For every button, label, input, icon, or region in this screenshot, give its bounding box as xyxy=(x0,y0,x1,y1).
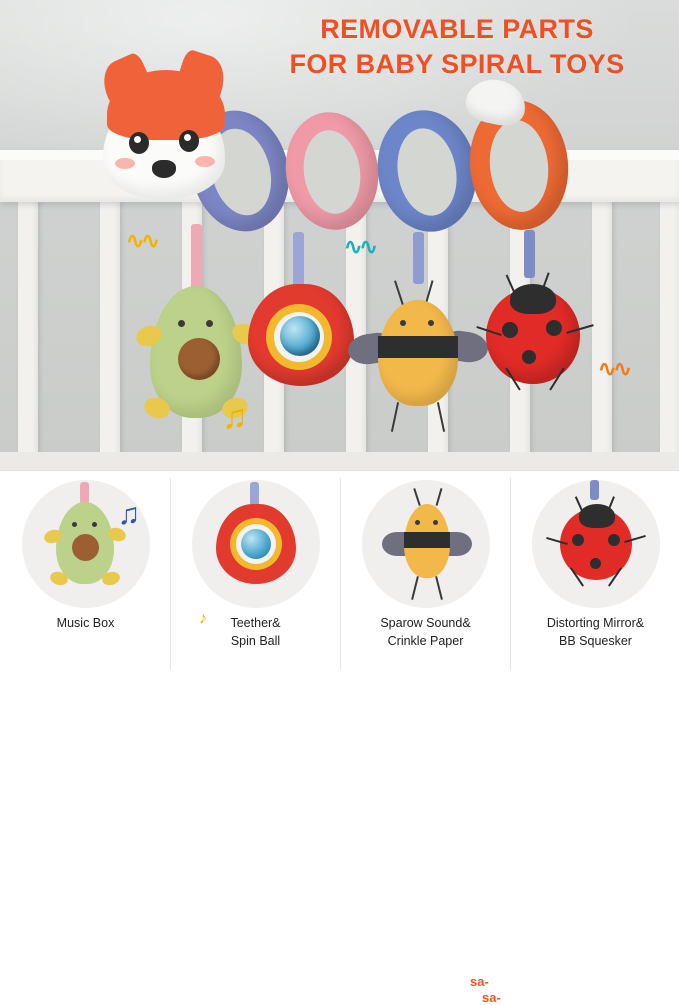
thumb-ladybug-head xyxy=(579,504,615,528)
thumb-bee-eye-right-icon xyxy=(433,520,438,525)
thumb-bee-leg-left xyxy=(411,576,419,600)
headline-line-1: REMOVABLE PARTS xyxy=(257,12,657,47)
feature-card-music-box[interactable]: ♫ Music Box xyxy=(1,478,170,670)
toy-bee-crinkle xyxy=(348,280,488,440)
feature-card-teether-spin-ball[interactable]: sa- sa- ♪ Teether& Spin Ball xyxy=(171,478,340,670)
crib-slat xyxy=(660,200,679,458)
bee-eye-left-icon xyxy=(400,320,406,326)
product-infographic: REMOVABLE PARTS FOR BABY SPIRAL TOYS xyxy=(0,0,679,679)
fox-nose-icon xyxy=(152,160,176,178)
toy-teether-spin-ball xyxy=(248,284,358,396)
feature-card-sparow-sound[interactable]: Sparow Sound& Crinkle Paper xyxy=(341,478,510,670)
avocado-eye-left-icon xyxy=(178,320,185,327)
strap-ladybug xyxy=(524,230,535,278)
hero-photo: REMOVABLE PARTS FOR BABY SPIRAL TOYS xyxy=(0,0,679,470)
sound-zigzag-orange-icon: ∿∿ xyxy=(598,356,629,382)
ladybug-spot xyxy=(522,350,536,364)
toy-ladybug-mirror xyxy=(470,272,600,402)
fox-eye-right-icon xyxy=(179,130,199,152)
feature-caption: Music Box xyxy=(1,614,170,632)
thumb-strap xyxy=(80,482,89,504)
thumb-bee-leg-right xyxy=(435,576,443,600)
fox-eye-left-icon xyxy=(129,132,149,154)
thumb-avocado-eye-right-icon xyxy=(92,522,97,527)
teether-spin-ball-icon xyxy=(280,316,320,356)
thumb-music-note-icon: ♫ xyxy=(118,500,141,530)
thumb-ladybug-spot xyxy=(572,534,584,546)
teether-ring-icon xyxy=(192,480,320,608)
feature-label-line-1: Teether& xyxy=(171,614,340,632)
ladybug-plush-icon xyxy=(532,480,660,608)
thumb-ladybug-spot xyxy=(590,558,601,569)
feature-label-line-1: Distorting Mirror& xyxy=(511,614,679,632)
thumb-bee-stripe xyxy=(404,532,450,548)
thumb-avocado-pit xyxy=(72,534,99,561)
thumb-spin-ball-icon xyxy=(241,529,271,559)
sa-sa-badge-2: sa- xyxy=(482,990,501,1005)
strap-teether xyxy=(293,232,304,292)
feature-label-line-2: BB Squesker xyxy=(511,632,679,650)
ladybug-head xyxy=(510,284,556,314)
crib-slat xyxy=(18,200,38,458)
avocado-plush-icon: ♫ xyxy=(22,480,150,608)
feature-label-line-1: Music Box xyxy=(1,614,170,632)
bee-eye-right-icon xyxy=(428,320,434,326)
ladybug-spot xyxy=(502,322,518,338)
avocado-pit xyxy=(178,338,220,380)
feature-caption: Distorting Mirror& BB Squesker xyxy=(511,614,679,650)
thumb-strap xyxy=(250,482,259,506)
feature-label-line-2: Crinkle Paper xyxy=(341,632,510,650)
bee-stripe xyxy=(378,336,458,358)
sound-zigzag-yellow-icon: ∿∿ xyxy=(126,228,157,254)
thumb-avocado-eye-left-icon xyxy=(72,522,77,527)
ladybug-spot xyxy=(546,320,562,336)
crib-base-rail xyxy=(0,452,679,470)
strap-bee xyxy=(413,232,424,284)
thumb-bee-antenna-left xyxy=(413,488,420,506)
thumb-ladybug-spot xyxy=(608,534,620,546)
headline-line-2: FOR BABY SPIRAL TOYS xyxy=(257,47,657,82)
thumb-strap xyxy=(590,480,599,500)
bee-leg-right xyxy=(437,402,445,432)
page-title: REMOVABLE PARTS FOR BABY SPIRAL TOYS xyxy=(257,12,657,81)
avocado-eye-right-icon xyxy=(206,320,213,327)
strap-avocado xyxy=(191,224,202,294)
fox-cheek-right xyxy=(195,156,215,167)
feature-card-distorting-mirror[interactable]: Distorting Mirror& BB Squesker xyxy=(511,478,679,670)
feature-caption: Teether& Spin Ball xyxy=(171,614,340,650)
sa-sa-badge-1: sa- xyxy=(470,974,489,989)
thumb-bee-eye-left-icon xyxy=(415,520,420,525)
bee-antenna-left xyxy=(394,280,404,305)
feature-label-line-1: Sparow Sound& xyxy=(341,614,510,632)
fox-head xyxy=(95,52,235,202)
sound-zigzag-teal-icon: ∿∿ xyxy=(344,234,375,260)
feature-label-line-2: Spin Ball xyxy=(171,632,340,650)
bee-leg-left xyxy=(391,402,399,432)
thumb-bee-antenna-right xyxy=(435,488,442,506)
bee-plush-icon xyxy=(362,480,490,608)
crib-slat xyxy=(100,200,120,458)
feature-caption: Sparow Sound& Crinkle Paper xyxy=(341,614,510,650)
music-note-icon: ♫ xyxy=(222,398,248,437)
panel-divider xyxy=(0,470,679,471)
fox-cheek-left xyxy=(115,158,135,169)
